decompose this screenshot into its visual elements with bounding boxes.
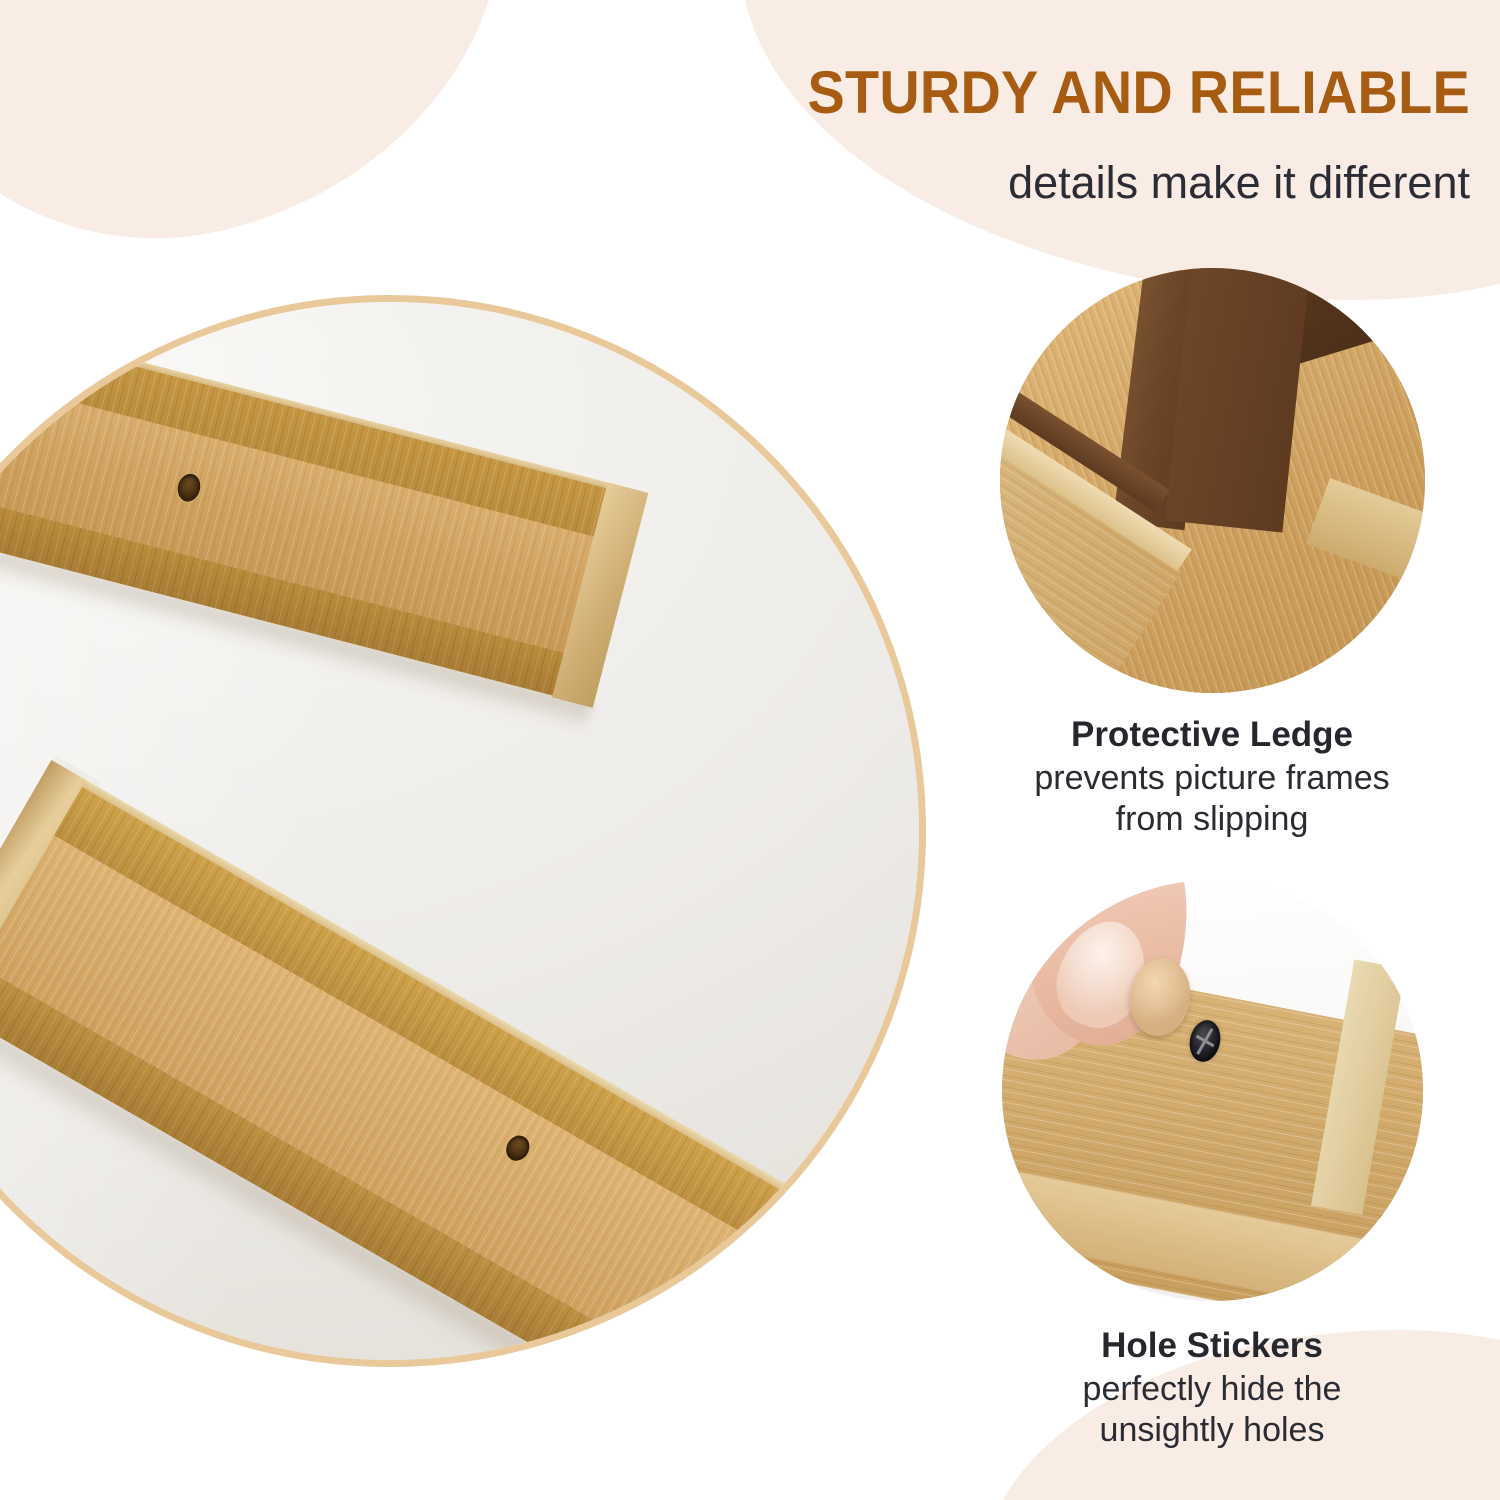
decorative-blob-top-right (740, 0, 1500, 300)
feature-caption-hole-stickers: Hole Stickers perfectly hide the unsight… (972, 1325, 1452, 1451)
feature-body-line-1: prevents picture frames (972, 758, 1452, 799)
feature-title: Hole Stickers (972, 1325, 1452, 1366)
feature-photo-protective-ledge (1000, 268, 1425, 693)
page-subtitle: details make it different (540, 158, 1470, 208)
feature-body-line-2: unsightly holes (972, 1410, 1452, 1451)
decorative-blob-top-left (0, 0, 568, 299)
hero-product-photo-circle (0, 295, 926, 1367)
feature-caption-protective-ledge: Protective Ledge prevents picture frames… (972, 714, 1452, 840)
marketing-image-canvas: STURDY AND RELIABLE details make it diff… (0, 0, 1500, 1500)
feature-body-line-2: from slipping (972, 799, 1452, 840)
feature-title: Protective Ledge (972, 714, 1452, 755)
feature-photo-hole-stickers (1002, 880, 1423, 1301)
page-title: STURDY AND RELIABLE (605, 62, 1470, 124)
feature-body-line-1: perfectly hide the (972, 1369, 1452, 1410)
hero-photo-inner (0, 302, 919, 1360)
